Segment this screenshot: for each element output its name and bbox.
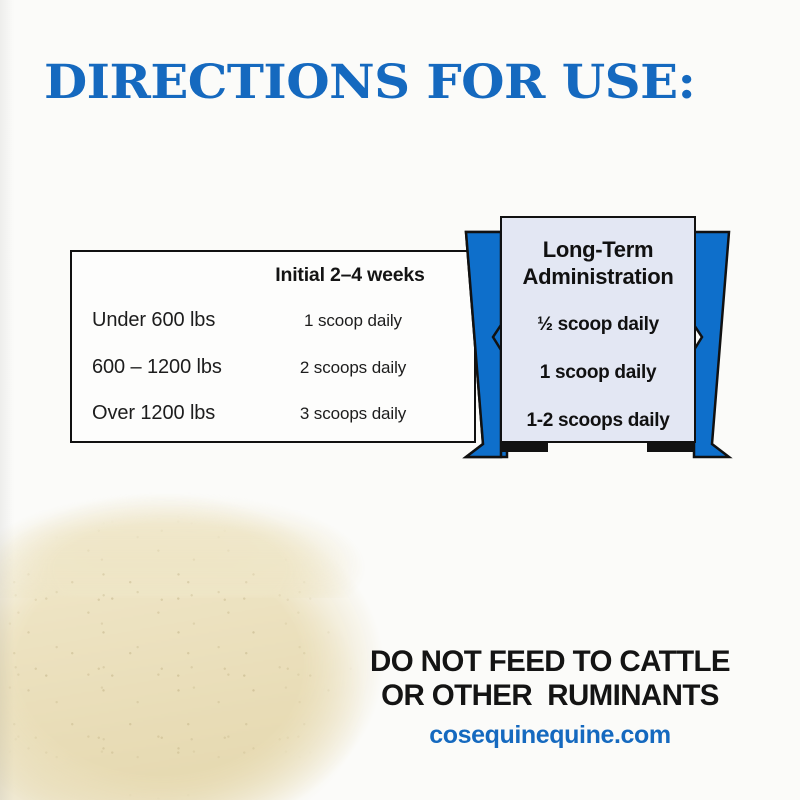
table-column-header-initial: Initial 2–4 weeks [250,264,450,287]
warning-line-1: DO NOT FEED TO CATTLE [330,645,770,679]
long-term-administration-card: Long-Term Administration ½ scoop daily 1… [500,216,696,443]
powder-grain-texture [0,470,460,800]
directions-for-use-panel: DIRECTIONS FOR USE: Initial 2–4 weeks Un… [0,0,800,800]
powder-base-layer [0,470,500,800]
ribbon-dose-1: ½ scoop daily [502,314,694,336]
warning-line-2: OR OTHER RUMINANTS [330,679,770,713]
page-title: DIRECTIONS FOR USE: [44,55,695,110]
footer-block: DO NOT FEED TO CATTLE OR OTHER RUMINANTS… [330,645,770,750]
table-cell-dose: 2 scoops daily [258,358,448,378]
left-edge-shadow [0,0,14,800]
ribbon-card-title: Long-Term Administration [502,236,694,290]
ribbon-title-line-1: Long-Term [543,237,654,262]
ribbon-dose-3: 1-2 scoops daily [502,410,694,432]
ribbon-right-wing [694,232,729,457]
table-cell-dose: 1 scoop daily [258,311,448,331]
website-link[interactable]: cosequinequine.com [330,721,770,750]
ribbon-left-wing-outer [466,232,501,457]
table-cell-dose: 3 scoops daily [258,404,448,424]
ribbon-dose-2: 1 scoop daily [502,362,694,384]
ribbon-title-line-2: Administration [522,264,673,289]
powder-crest-layer [0,478,400,598]
